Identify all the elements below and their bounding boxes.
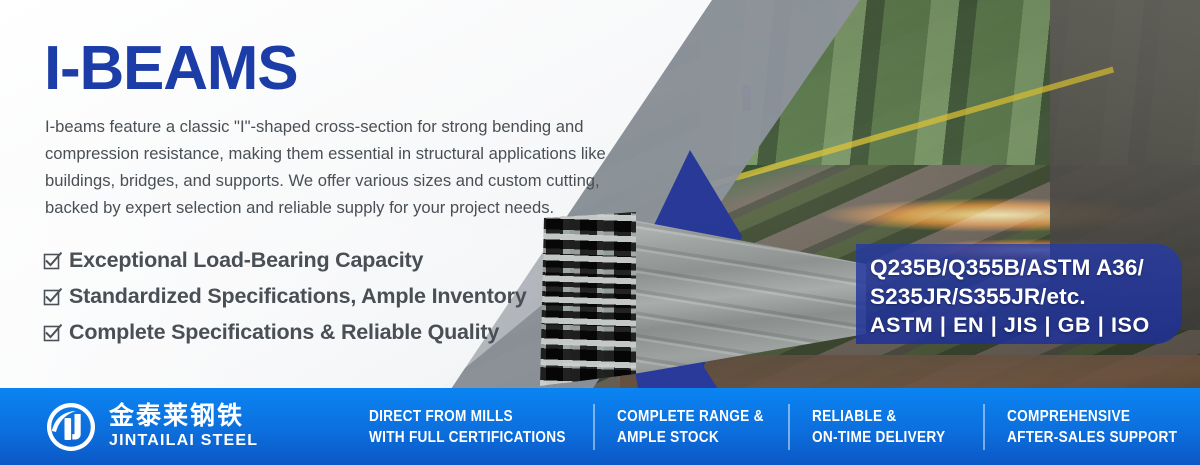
i-beam-product-photo <box>536 212 866 390</box>
footer-feature-line-2: WITH FULL CERTIFICATIONS <box>369 427 566 448</box>
footer-feature-item: DIRECT FROM MILLS WITH FULL CERTIFICATIO… <box>345 404 593 450</box>
grades-line-1: Q235B/Q355B/ASTM A36/ <box>870 253 1168 282</box>
i-beam-cross-sections <box>536 212 636 386</box>
footer-feature-item: COMPREHENSIVE AFTER-SALES SUPPORT <box>983 404 1200 450</box>
feature-item: Exceptional Load-Bearing Capacity <box>43 248 527 273</box>
grades-standards-line: ASTM | EN | JIS | GB | ISO <box>870 311 1168 340</box>
footer-feature-line-2: ON-TIME DELIVERY <box>812 427 962 448</box>
feature-label: Standardized Specifications, Ample Inven… <box>69 284 527 309</box>
product-description: I-beams feature a classic "I"-shaped cro… <box>45 113 625 221</box>
footer-feature-line-1: DIRECT FROM MILLS <box>369 406 566 427</box>
footer-feature-list: DIRECT FROM MILLS WITH FULL CERTIFICATIO… <box>345 388 1200 465</box>
product-banner: Q235B/Q355B/ASTM A36/ S235JR/S355JR/etc.… <box>0 0 1200 465</box>
feature-item: Standardized Specifications, Ample Inven… <box>43 284 527 309</box>
brand-name-en: JINTAILAI STEEL <box>109 432 258 450</box>
footer-bar: 金泰莱钢铁 JINTAILAI STEEL DIRECT FROM MILLS … <box>0 388 1200 465</box>
page-title: I-BEAMS <box>44 38 297 100</box>
feature-label: Complete Specifications & Reliable Quali… <box>69 320 499 345</box>
brand-text: 金泰莱钢铁 JINTAILAI STEEL <box>109 403 258 449</box>
check-box-icon <box>43 251 62 270</box>
footer-feature-item: COMPLETE RANGE & AMPLE STOCK <box>593 404 788 450</box>
jintailai-logo-icon <box>44 400 98 454</box>
footer-feature-item: RELIABLE & ON-TIME DELIVERY <box>788 404 983 450</box>
brand-lockup[interactable]: 金泰莱钢铁 JINTAILAI STEEL <box>0 400 345 454</box>
footer-feature-line-1: RELIABLE & <box>812 406 962 427</box>
footer-feature-line-2: AFTER-SALES SUPPORT <box>1007 427 1177 448</box>
grades-line-2: S235JR/S355JR/etc. <box>870 282 1168 311</box>
brand-name-cn: 金泰莱钢铁 <box>109 403 258 429</box>
footer-feature-line-2: AMPLE STOCK <box>617 427 767 448</box>
steel-grades-panel: Q235B/Q355B/ASTM A36/ S235JR/S355JR/etc.… <box>856 244 1182 344</box>
feature-item: Complete Specifications & Reliable Quali… <box>43 320 527 345</box>
feature-label: Exceptional Load-Bearing Capacity <box>69 248 423 273</box>
check-box-icon <box>43 287 62 306</box>
footer-feature-line-1: COMPLETE RANGE & <box>617 406 767 427</box>
footer-feature-line-1: COMPREHENSIVE <box>1007 406 1177 427</box>
check-box-icon <box>43 323 62 342</box>
i-beam-lengths <box>622 216 866 382</box>
feature-list: Exceptional Load-Bearing Capacity Standa… <box>43 248 527 356</box>
